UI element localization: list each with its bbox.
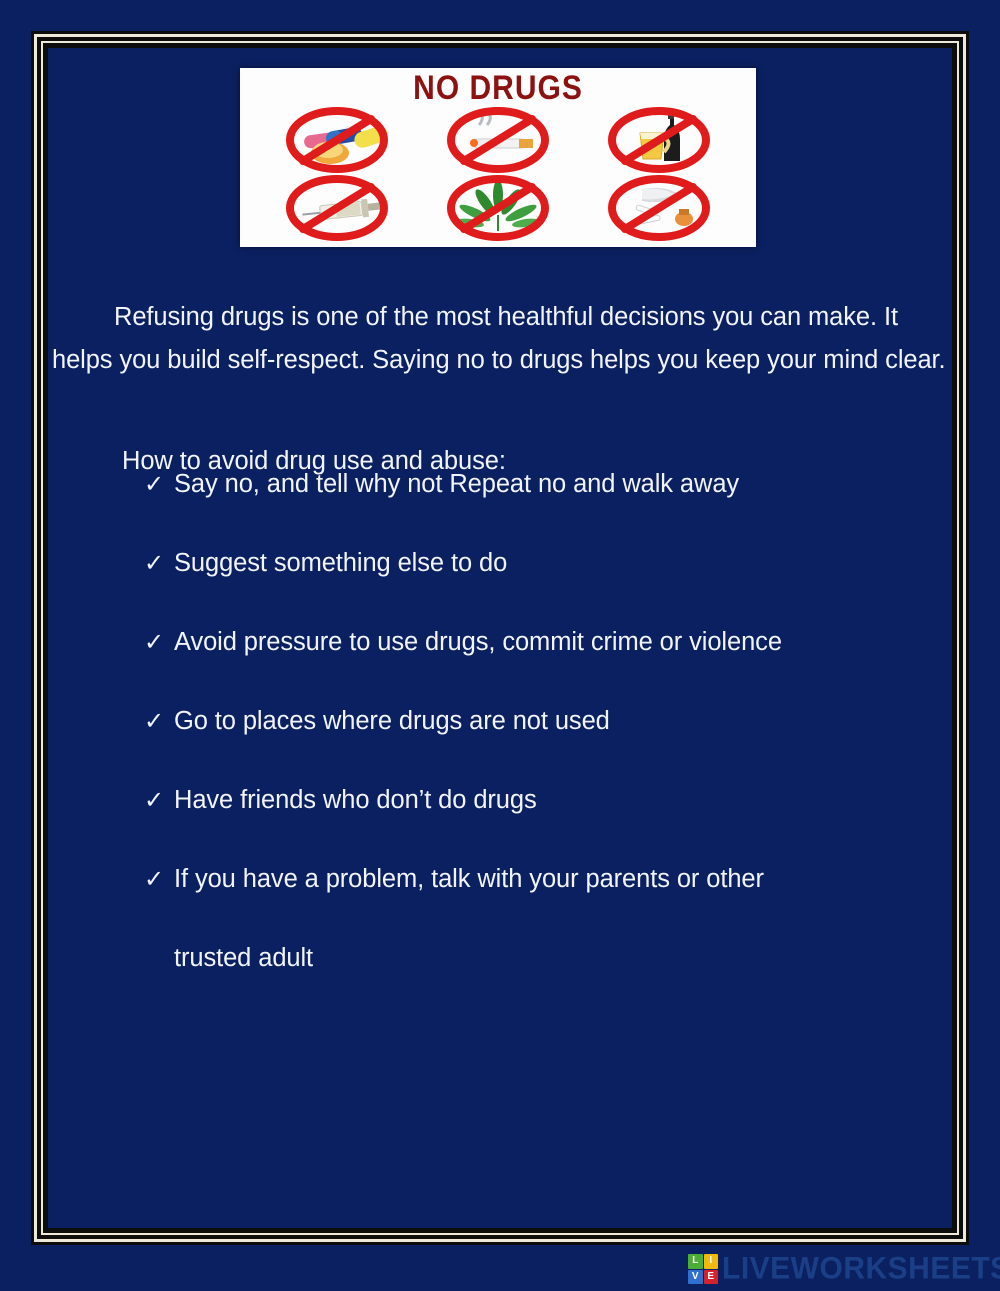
no-alcohol-icon <box>579 106 740 174</box>
check-icon: ✓ <box>144 548 164 580</box>
banner-title: NO DRUGS <box>240 69 756 108</box>
worksheet-page: NO DRUGS <box>0 0 1000 1291</box>
list-item: ✓ If you have a problem, talk with your … <box>144 863 944 974</box>
live-logo-letter-v: V <box>688 1270 703 1285</box>
intro-paragraph: Refusing drugs is one of the most health… <box>52 296 952 382</box>
list-item-continuation: trusted adult <box>174 942 944 974</box>
list-item-text: Suggest something else to do <box>174 549 507 577</box>
list-item-text: Avoid pressure to use drugs, commit crim… <box>174 628 782 656</box>
live-logo-letter-e: E <box>704 1270 719 1285</box>
watermark-text: LIVEWORKSHEETS <box>722 1251 1000 1287</box>
live-logo-letter-l: L <box>688 1254 703 1269</box>
worksheet-content: NO DRUGS <box>48 48 952 1228</box>
check-icon: ✓ <box>144 627 164 659</box>
list-item: ✓ Suggest something else to do <box>144 547 944 579</box>
list-item: ✓ Say no, and tell why not Repeat no and… <box>144 468 944 500</box>
tips-list: ✓ Say no, and tell why not Repeat no and… <box>144 468 944 1021</box>
list-item-text: Say no, and tell why not Repeat no and w… <box>174 470 739 498</box>
no-inhalant-icon <box>579 174 740 242</box>
no-syringe-icon <box>256 174 417 242</box>
prohibition-icon-grid <box>256 106 740 242</box>
check-icon: ✓ <box>144 785 164 817</box>
list-item-text: Go to places where drugs are not used <box>174 707 610 735</box>
check-icon: ✓ <box>144 469 164 501</box>
list-item: ✓ Have friends who don’t do drugs <box>144 784 944 816</box>
list-item-text: Have friends who don’t do drugs <box>174 786 537 814</box>
banner-canvas: NO DRUGS <box>240 68 756 247</box>
check-icon: ✓ <box>144 864 164 896</box>
list-item: ✓ Go to places where drugs are not used <box>144 705 944 737</box>
list-item-text: If you have a problem, talk with your pa… <box>174 865 764 893</box>
live-logo-letter-i: I <box>704 1254 719 1269</box>
live-logo-icon: L I V E <box>688 1254 718 1284</box>
no-cannabis-icon <box>417 174 578 242</box>
no-drugs-banner: NO DRUGS <box>240 68 756 247</box>
liveworksheets-watermark: L I V E LIVEWORKSHEETS <box>688 1252 1000 1286</box>
check-icon: ✓ <box>144 706 164 738</box>
list-item: ✓ Avoid pressure to use drugs, commit cr… <box>144 626 944 658</box>
no-pills-icon <box>256 106 417 174</box>
no-smoking-icon <box>417 106 578 174</box>
